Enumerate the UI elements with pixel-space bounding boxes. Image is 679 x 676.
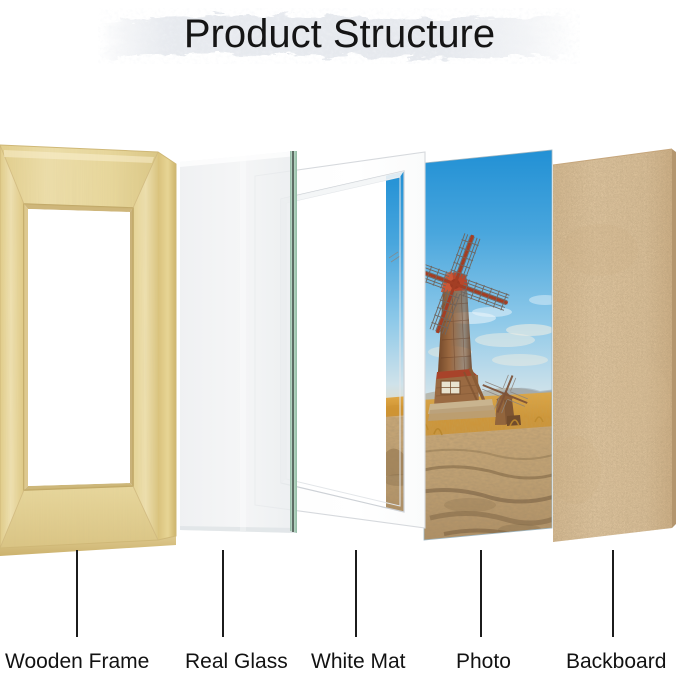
layer-backboard[interactable] [549,149,676,543]
caption-real-glass: Real Glass [185,650,288,674]
caption-backboard: Backboard [566,650,666,674]
leader-line-wooden-frame [76,550,78,637]
leader-line-photo [480,550,482,637]
caption-photo: Photo [456,650,511,674]
leader-line-white-mat [355,550,357,637]
layer-real-glass[interactable] [180,151,297,533]
exploded-diagram [0,0,679,676]
leader-line-backboard [612,550,614,637]
leader-line-real-glass [222,550,224,637]
caption-wooden-frame: Wooden Frame [5,650,149,674]
caption-white-mat: White Mat [311,650,406,674]
layer-wooden-frame[interactable] [0,145,176,557]
